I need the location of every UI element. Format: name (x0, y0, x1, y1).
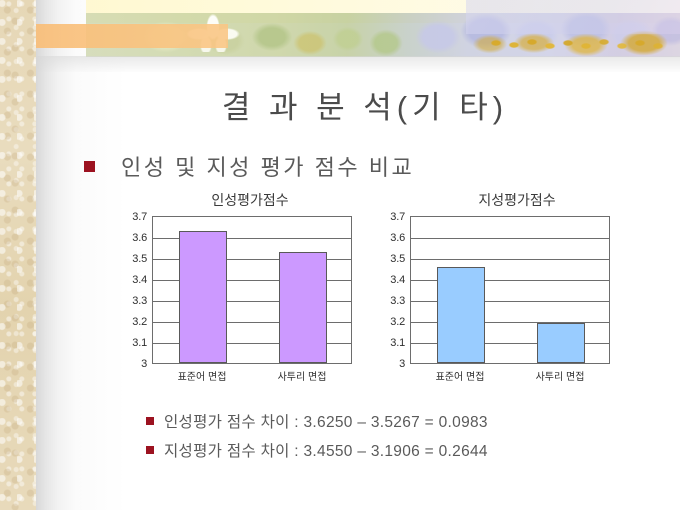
y-axis-labels: 3.7 3.6 3.5 3.4 3.3 3.2 3.1 3 (124, 216, 150, 366)
sub-bullet-label: 인성평가 점수 차이 : 3.6250 – 3.5267 = 0.0983 (164, 410, 488, 432)
y-tick-label: 3.3 (390, 295, 405, 307)
bar-dialect-interview (279, 252, 327, 363)
header-orange-band (36, 24, 228, 48)
presentation-slide: 결 과 분 석(기 타) 인성 및 지성 평가 점수 비교 인성평가점수 3.7… (0, 0, 680, 510)
main-bullet-item: 인성 및 지성 평가 점수 비교 (84, 150, 414, 182)
y-tick-label: 3.2 (390, 316, 405, 328)
y-tick-label: 3.1 (390, 337, 405, 349)
y-axis-labels: 3.7 3.6 3.5 3.4 3.3 3.2 3.1 3 (382, 216, 408, 366)
y-tick-label: 3 (141, 358, 147, 370)
page-title: 결 과 분 석(기 타) (60, 82, 670, 127)
list-item: 지성평가 점수 차이 : 3.4550 – 3.1906 = 0.2644 (146, 439, 488, 461)
chart-plot-area (410, 216, 610, 364)
gridline (411, 238, 609, 239)
header-lavender-overlay (466, 0, 680, 34)
chart-title: 지성평가점수 (382, 190, 634, 210)
chart-plot-wrapper: 3.7 3.6 3.5 3.4 3.3 3.2 3.1 3 (382, 216, 634, 368)
y-tick-label: 3.3 (132, 295, 147, 307)
sub-bullet-label: 지성평가 점수 차이 : 3.4550 – 3.1906 = 0.2644 (164, 439, 488, 461)
chart-plot-wrapper: 3.7 3.6 3.5 3.4 3.3 3.2 3.1 3 (124, 216, 376, 368)
y-tick-label: 3.5 (132, 253, 147, 265)
y-tick-label: 3 (399, 358, 405, 370)
x-axis-labels: 표준어 면접 사투리 면접 (152, 368, 352, 388)
square-bullet-icon (146, 446, 154, 454)
slide-header-decoration (0, 0, 680, 72)
y-tick-label: 3.2 (132, 316, 147, 328)
x-tick-label: 표준어 면접 (436, 368, 485, 383)
y-tick-label: 3.6 (390, 232, 405, 244)
x-tick-label: 사투리 면접 (536, 368, 585, 383)
y-tick-label: 3.7 (132, 211, 147, 223)
y-tick-label: 3.1 (132, 337, 147, 349)
gridline (411, 259, 609, 260)
bar-standard-interview (437, 267, 485, 363)
list-item: 인성평가 점수 차이 : 3.6250 – 3.5267 = 0.0983 (146, 410, 488, 432)
header-shadow-fade (36, 56, 680, 72)
y-tick-label: 3.4 (390, 274, 405, 286)
y-tick-label: 3.5 (390, 253, 405, 265)
y-tick-label: 3.4 (132, 274, 147, 286)
chart-personality-score: 인성평가점수 3.7 3.6 3.5 3.4 3.3 3.2 3.1 3 (124, 190, 376, 385)
x-axis-labels: 표준어 면접 사투리 면접 (410, 368, 610, 388)
square-bullet-icon (146, 417, 154, 425)
chart-title: 인성평가점수 (124, 190, 376, 210)
square-bullet-icon (84, 161, 95, 172)
wheat-stalk-icon (486, 34, 680, 56)
sub-bullet-list: 인성평가 점수 차이 : 3.6250 – 3.5267 = 0.0983 지성… (146, 410, 488, 468)
x-tick-label: 표준어 면접 (178, 368, 227, 383)
bar-standard-interview (179, 231, 227, 363)
y-tick-label: 3.7 (390, 211, 405, 223)
main-bullet-label: 인성 및 지성 평가 점수 비교 (121, 150, 414, 182)
y-tick-label: 3.6 (132, 232, 147, 244)
chart-plot-area (152, 216, 352, 364)
bar-dialect-interview (537, 323, 585, 363)
chart-intelligence-score: 지성평가점수 3.7 3.6 3.5 3.4 3.3 3.2 3.1 3 (382, 190, 634, 385)
charts-container: 인성평가점수 3.7 3.6 3.5 3.4 3.3 3.2 3.1 3 (0, 190, 680, 390)
x-tick-label: 사투리 면접 (278, 368, 327, 383)
